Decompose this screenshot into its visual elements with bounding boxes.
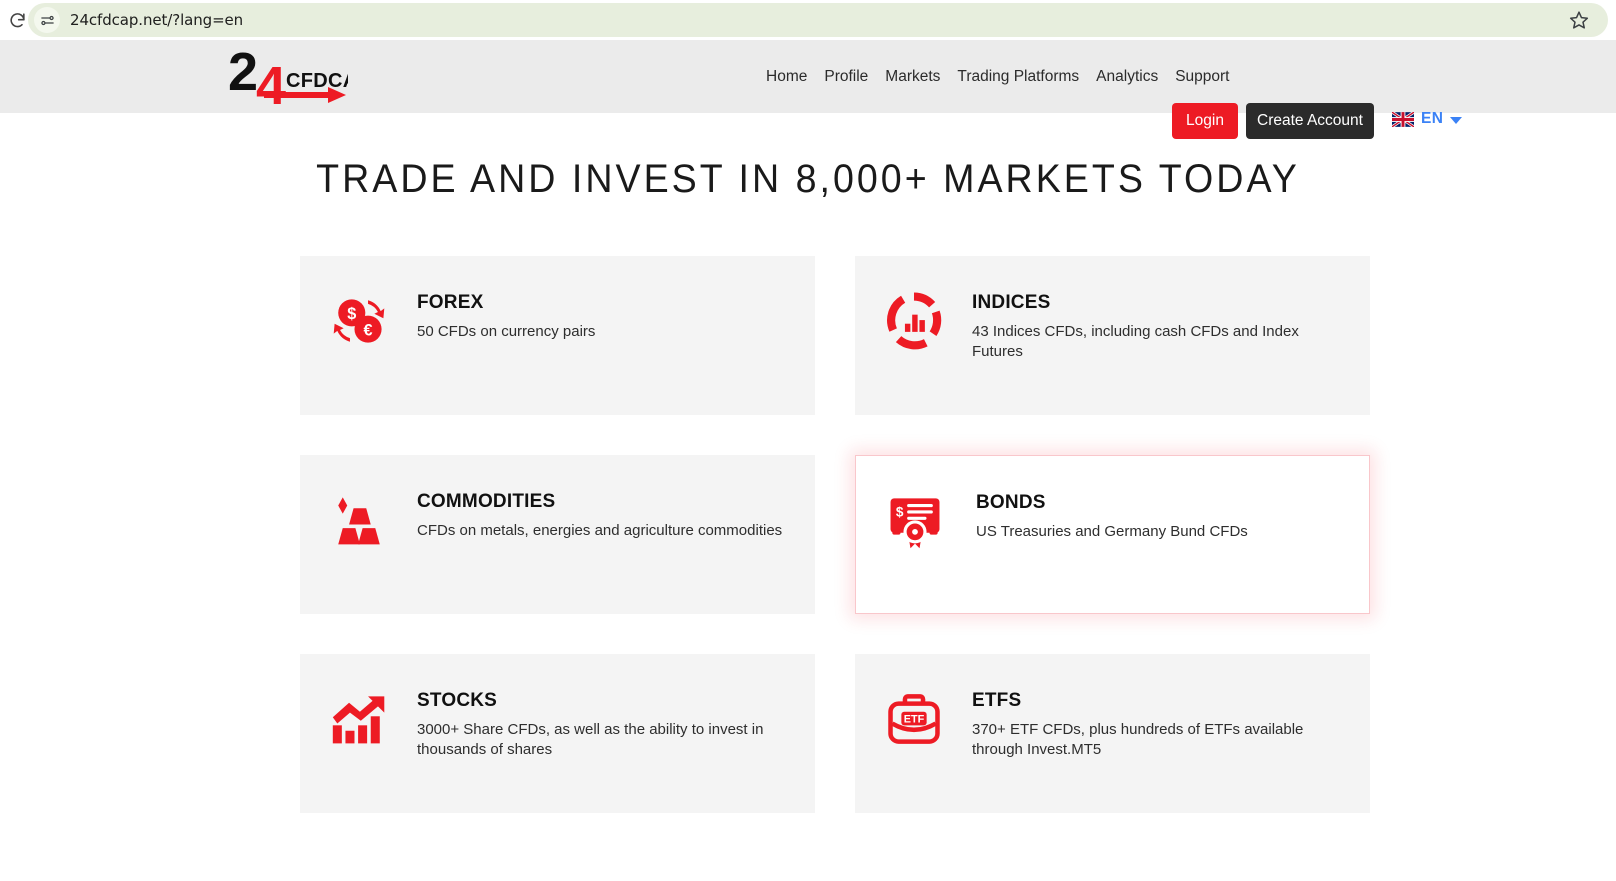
markets-grid: $ € FOREX 50 CFDs on currency pairs	[300, 256, 1370, 853]
nav-item-analytics[interactable]: Analytics	[1096, 68, 1158, 86]
forex-coins-exchange-icon: $ €	[328, 290, 390, 352]
indices-donut-chart-icon	[883, 290, 945, 352]
svg-text:€: €	[364, 321, 373, 339]
market-card-etfs[interactable]: ETF ETFS 370+ ETF CFDs, plus hundreds of…	[855, 654, 1370, 813]
market-card-stocks[interactable]: STOCKS 3000+ Share CFDs, as well as the …	[300, 654, 815, 813]
market-card-commodities[interactable]: COMMODITIES CFDs on metals, energies and…	[300, 455, 815, 614]
card-row: STOCKS 3000+ Share CFDs, as well as the …	[300, 654, 1370, 813]
bookmark-star-icon[interactable]	[1568, 9, 1590, 31]
card-title: FOREX	[417, 292, 595, 314]
card-text: BONDS US Treasuries and Germany Bund CFD…	[976, 488, 1248, 542]
site-logo[interactable]: 2 4 CFDCAP	[228, 42, 348, 112]
card-title: BONDS	[976, 492, 1248, 514]
etfs-briefcase-icon: ETF	[883, 688, 945, 750]
svg-text:ETF: ETF	[904, 714, 925, 726]
nav-item-home[interactable]: Home	[766, 68, 807, 86]
card-row: $ € FOREX 50 CFDs on currency pairs	[300, 256, 1370, 415]
card-text: COMMODITIES CFDs on metals, energies and…	[417, 487, 782, 541]
market-card-forex[interactable]: $ € FOREX 50 CFDs on currency pairs	[300, 256, 815, 415]
create-account-button[interactable]: Create Account	[1246, 103, 1374, 139]
market-card-bonds[interactable]: $ BONDS US Treasu	[855, 455, 1370, 614]
nav-item-profile[interactable]: Profile	[824, 68, 868, 86]
card-text: INDICES 43 Indices CFDs, including cash …	[972, 288, 1342, 363]
address-bar[interactable]: 24cfdcap.net/?lang=en	[28, 3, 1608, 37]
language-selector[interactable]: EN	[1392, 110, 1462, 128]
commodities-gold-bars-icon	[328, 489, 390, 551]
nav-item-trading-platforms[interactable]: Trading Platforms	[957, 68, 1079, 86]
card-text: ETFS 370+ ETF CFDs, plus hundreds of ETF…	[972, 686, 1342, 761]
uk-flag-icon	[1392, 112, 1414, 127]
card-row: COMMODITIES CFDs on metals, energies and…	[300, 455, 1370, 614]
card-description: 370+ ETF CFDs, plus hundreds of ETFs ava…	[972, 720, 1342, 761]
card-description: 3000+ Share CFDs, as well as the ability…	[417, 720, 787, 761]
card-title: ETFS	[972, 690, 1342, 712]
nav-item-markets[interactable]: Markets	[885, 68, 940, 86]
nav-item-support[interactable]: Support	[1175, 68, 1229, 86]
stocks-growth-chart-icon	[328, 688, 390, 750]
logo-number-4: 4	[256, 56, 286, 112]
browser-toolbar: 24cfdcap.net/?lang=en	[0, 0, 1616, 40]
card-description: 43 Indices CFDs, including cash CFDs and…	[972, 322, 1342, 363]
card-description: US Treasuries and Germany Bund CFDs	[976, 522, 1248, 542]
language-code: EN	[1421, 110, 1443, 128]
card-description: CFDs on metals, energies and agriculture…	[417, 521, 782, 541]
site-header: 2 4 CFDCAP Home Profile Markets Trading …	[0, 40, 1616, 113]
card-text: STOCKS 3000+ Share CFDs, as well as the …	[417, 686, 787, 761]
site-settings-icon[interactable]	[34, 7, 60, 33]
card-description: 50 CFDs on currency pairs	[417, 322, 595, 342]
card-title: STOCKS	[417, 690, 787, 712]
svg-text:$: $	[347, 305, 356, 323]
url-text[interactable]: 24cfdcap.net/?lang=en	[70, 11, 243, 29]
main-navigation: Home Profile Markets Trading Platforms A…	[766, 40, 1230, 113]
logo-number-2: 2	[228, 42, 258, 102]
bonds-certificate-icon: $	[884, 490, 946, 552]
page-title: TRADE AND INVEST IN 8,000+ MARKETS TODAY	[48, 157, 1567, 202]
market-card-indices[interactable]: INDICES 43 Indices CFDs, including cash …	[855, 256, 1370, 415]
logo-wordmark: CFDCAP	[286, 70, 348, 92]
svg-text:$: $	[896, 504, 904, 519]
chevron-down-icon	[1450, 117, 1462, 124]
card-title: COMMODITIES	[417, 491, 782, 513]
card-title: INDICES	[972, 292, 1342, 314]
card-text: FOREX 50 CFDs on currency pairs	[417, 288, 595, 342]
login-button[interactable]: Login	[1172, 103, 1238, 139]
